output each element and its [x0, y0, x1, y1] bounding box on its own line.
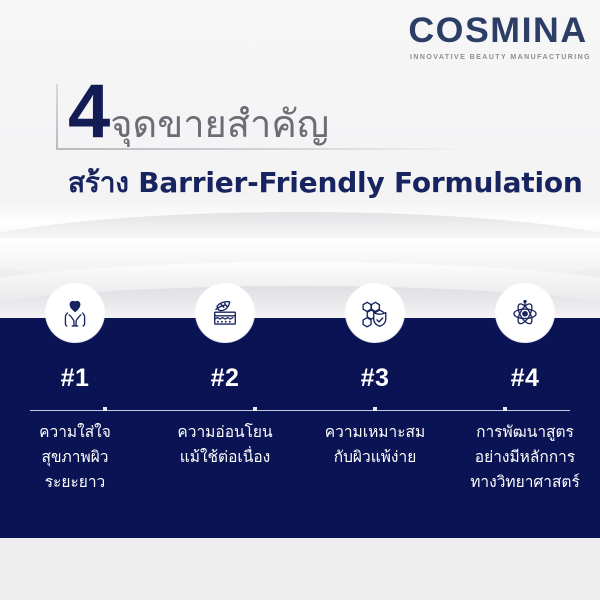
poster-canvas: COSMINA INNOVATIVE BEAUTY MANUFACTURING …	[0, 0, 600, 600]
point-item[interactable]: #4	[450, 284, 600, 392]
point-number: #3	[361, 364, 390, 392]
point-number: #4	[511, 364, 540, 392]
leaf-skin-layers-icon	[196, 284, 254, 342]
point-item[interactable]: #1	[0, 284, 150, 392]
headline-number: 4	[68, 74, 108, 150]
point-caption: การพัฒนาสูตรอย่างมีหลักการทางวิทยาศาสตร์	[450, 420, 600, 495]
point-item[interactable]: #2	[150, 284, 300, 392]
logo-wordmark: COSMINA	[408, 12, 588, 50]
headline-thai-text: จุดขายสำคัญ	[110, 101, 329, 147]
divider-tick	[373, 407, 377, 411]
wave-hairline	[0, 252, 600, 254]
divider-tick	[253, 407, 257, 411]
logo-tagline: INNOVATIVE BEAUTY MANUFACTURING	[410, 54, 586, 61]
atom-icon	[496, 284, 554, 342]
divider-tick	[103, 407, 107, 411]
point-caption: ความเหมาะสมกับผิวแพ้ง่าย	[300, 420, 450, 495]
point-caption: ความใส่ใจสุขภาพผิวระยะยาว	[0, 420, 150, 495]
point-number: #1	[61, 364, 90, 392]
points-divider	[30, 410, 570, 411]
heart-in-hands-icon	[46, 284, 104, 342]
point-caption: ความอ่อนโยนแม้ใช้ต่อเนื่อง	[150, 420, 300, 495]
page-subtitle: สร้าง Barrier-Friendly Formulation	[68, 166, 583, 200]
bracket-vertical-rule	[56, 84, 58, 150]
brand-logo: COSMINA INNOVATIVE BEAUTY MANUFACTURING	[410, 12, 586, 61]
headline-row: 4 จุดขายสำคัญ	[68, 74, 329, 150]
captions-row: ความใส่ใจสุขภาพผิวระยะยาว ความอ่อนโยนแม้…	[0, 420, 600, 495]
honeycomb-shield-check-icon	[346, 284, 404, 342]
divider-tick	[503, 407, 507, 411]
headline-block: 4 จุดขายสำคัญ	[56, 78, 476, 150]
point-number: #2	[211, 364, 240, 392]
points-row: #1 #2	[0, 284, 600, 392]
point-item[interactable]: #3	[300, 284, 450, 392]
bottom-background	[0, 538, 600, 600]
